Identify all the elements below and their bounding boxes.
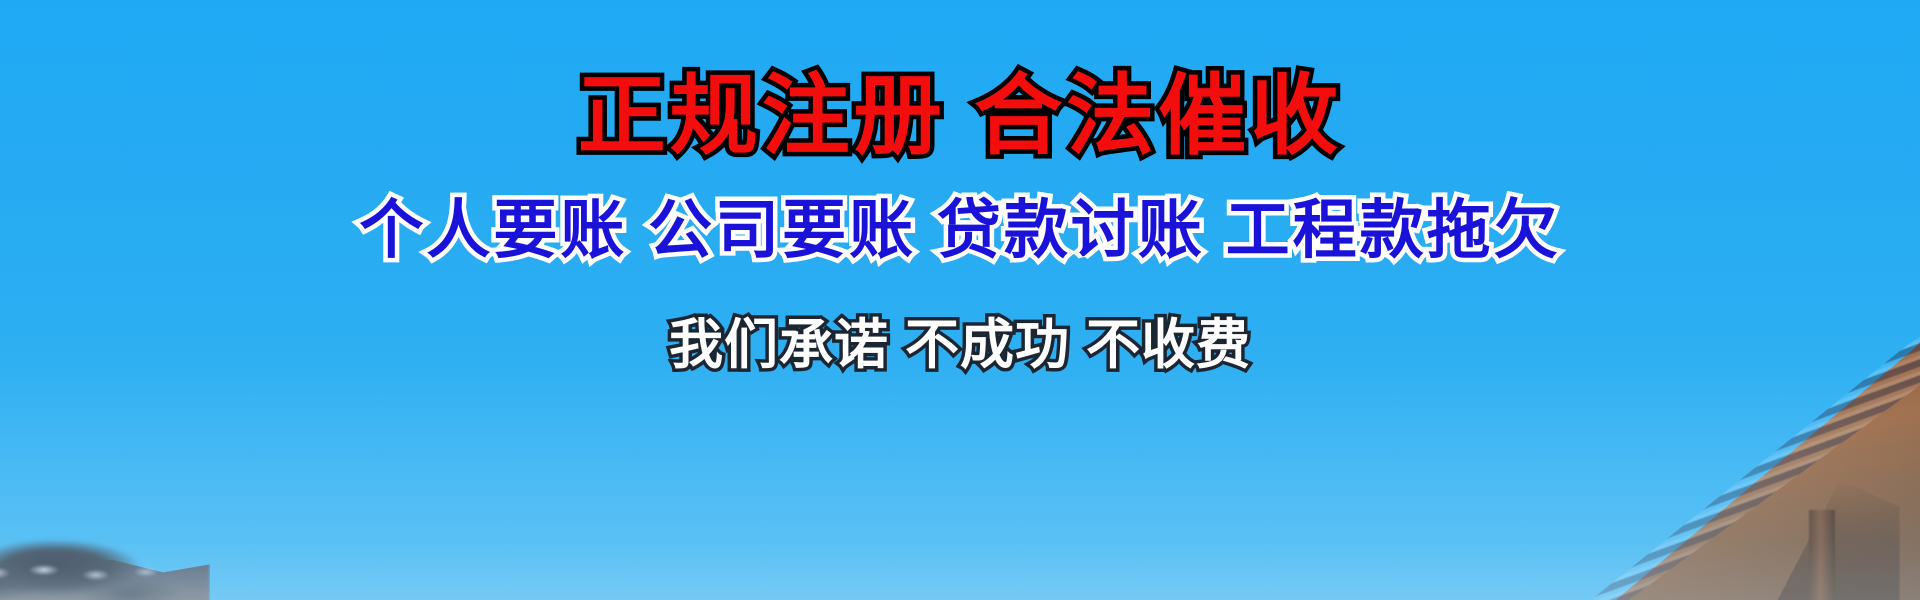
banner-services-line: 个人要账 公司要账 贷款讨账 工程款拖欠 xyxy=(359,198,1560,262)
banner-headline: 正规注册 合法催收 xyxy=(578,72,1342,160)
promo-banner: 正规注册 合法催收 个人要账 公司要账 贷款讨账 工程款拖欠 我们承诺 不成功 … xyxy=(0,0,1920,600)
banner-text-stack: 正规注册 合法催收 个人要账 公司要账 贷款讨账 工程款拖欠 我们承诺 不成功 … xyxy=(0,0,1920,600)
banner-promise-line: 我们承诺 不成功 不收费 xyxy=(669,318,1251,372)
